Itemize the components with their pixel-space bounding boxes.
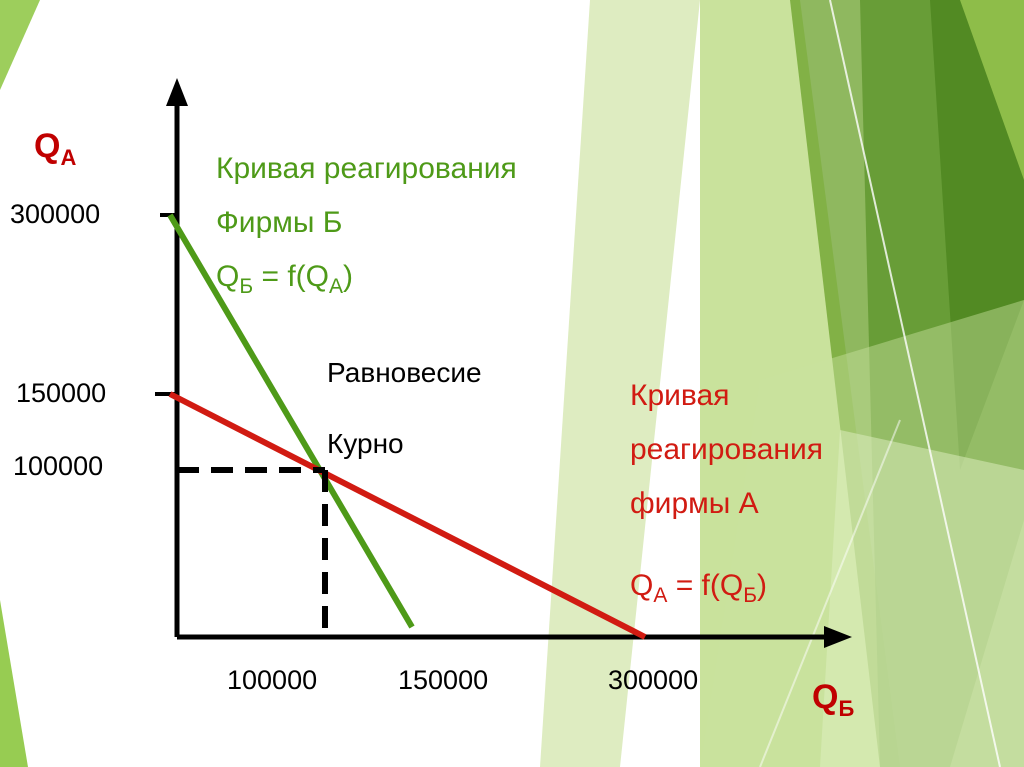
x-axis-title: QБ (812, 678, 854, 721)
firm-b-curve-label-line1: Кривая реагирования (216, 152, 517, 187)
x-axis (177, 626, 852, 648)
y-tick-label-150000: 150000 (16, 378, 106, 409)
y-tick-label-300000: 300000 (10, 199, 100, 230)
firm-a-formula-mid: = f(Q (667, 569, 743, 602)
firm-a-curve-label-line2: реагирования (630, 433, 823, 468)
equilibrium-label-line1: Равновесие (327, 357, 482, 389)
firm-a-formula-end: ) (757, 569, 767, 602)
firm-b-formula-end: ) (343, 260, 353, 293)
y-axis-title-text: Q (34, 127, 60, 165)
firm-a-formula-q: Q (630, 569, 653, 602)
y-axis-title-sub: А (60, 145, 76, 170)
x-tick-label-150000: 150000 (398, 665, 488, 696)
equilibrium-label-line2: Курно (327, 428, 404, 460)
y-axis-title: QА (34, 127, 76, 170)
x-axis-title-text: Q (812, 678, 838, 716)
slide-canvas: QА QБ 300000 150000 100000 100000 150000… (0, 0, 1024, 767)
firm-b-curve-label-line2: Фирмы Б (216, 206, 342, 241)
firm-a-curve-formula: QА = f(QБ) (630, 569, 767, 608)
firm-a-curve-label-line1: Кривая (630, 379, 729, 414)
x-tick-label-100000: 100000 (227, 665, 317, 696)
firm-b-curve-formula: QБ = f(QА) (216, 260, 353, 299)
x-axis-title-sub: Б (838, 696, 854, 721)
firm-a-formula-sub2: Б (743, 584, 757, 607)
y-axis (166, 78, 188, 637)
firm-a-curve-label-line3: фирмы А (630, 487, 759, 522)
firm-b-formula-sub2: А (329, 275, 343, 298)
series-line-firm-a (170, 394, 645, 637)
y-tick-label-100000: 100000 (13, 451, 103, 482)
firm-b-formula-q: Q (216, 260, 239, 293)
x-tick-label-300000: 300000 (608, 665, 698, 696)
firm-b-formula-mid: = f(Q (253, 260, 329, 293)
firm-b-formula-sub1: Б (239, 275, 253, 298)
firm-a-formula-sub1: А (653, 584, 667, 607)
chart-plot-area (0, 0, 1024, 767)
